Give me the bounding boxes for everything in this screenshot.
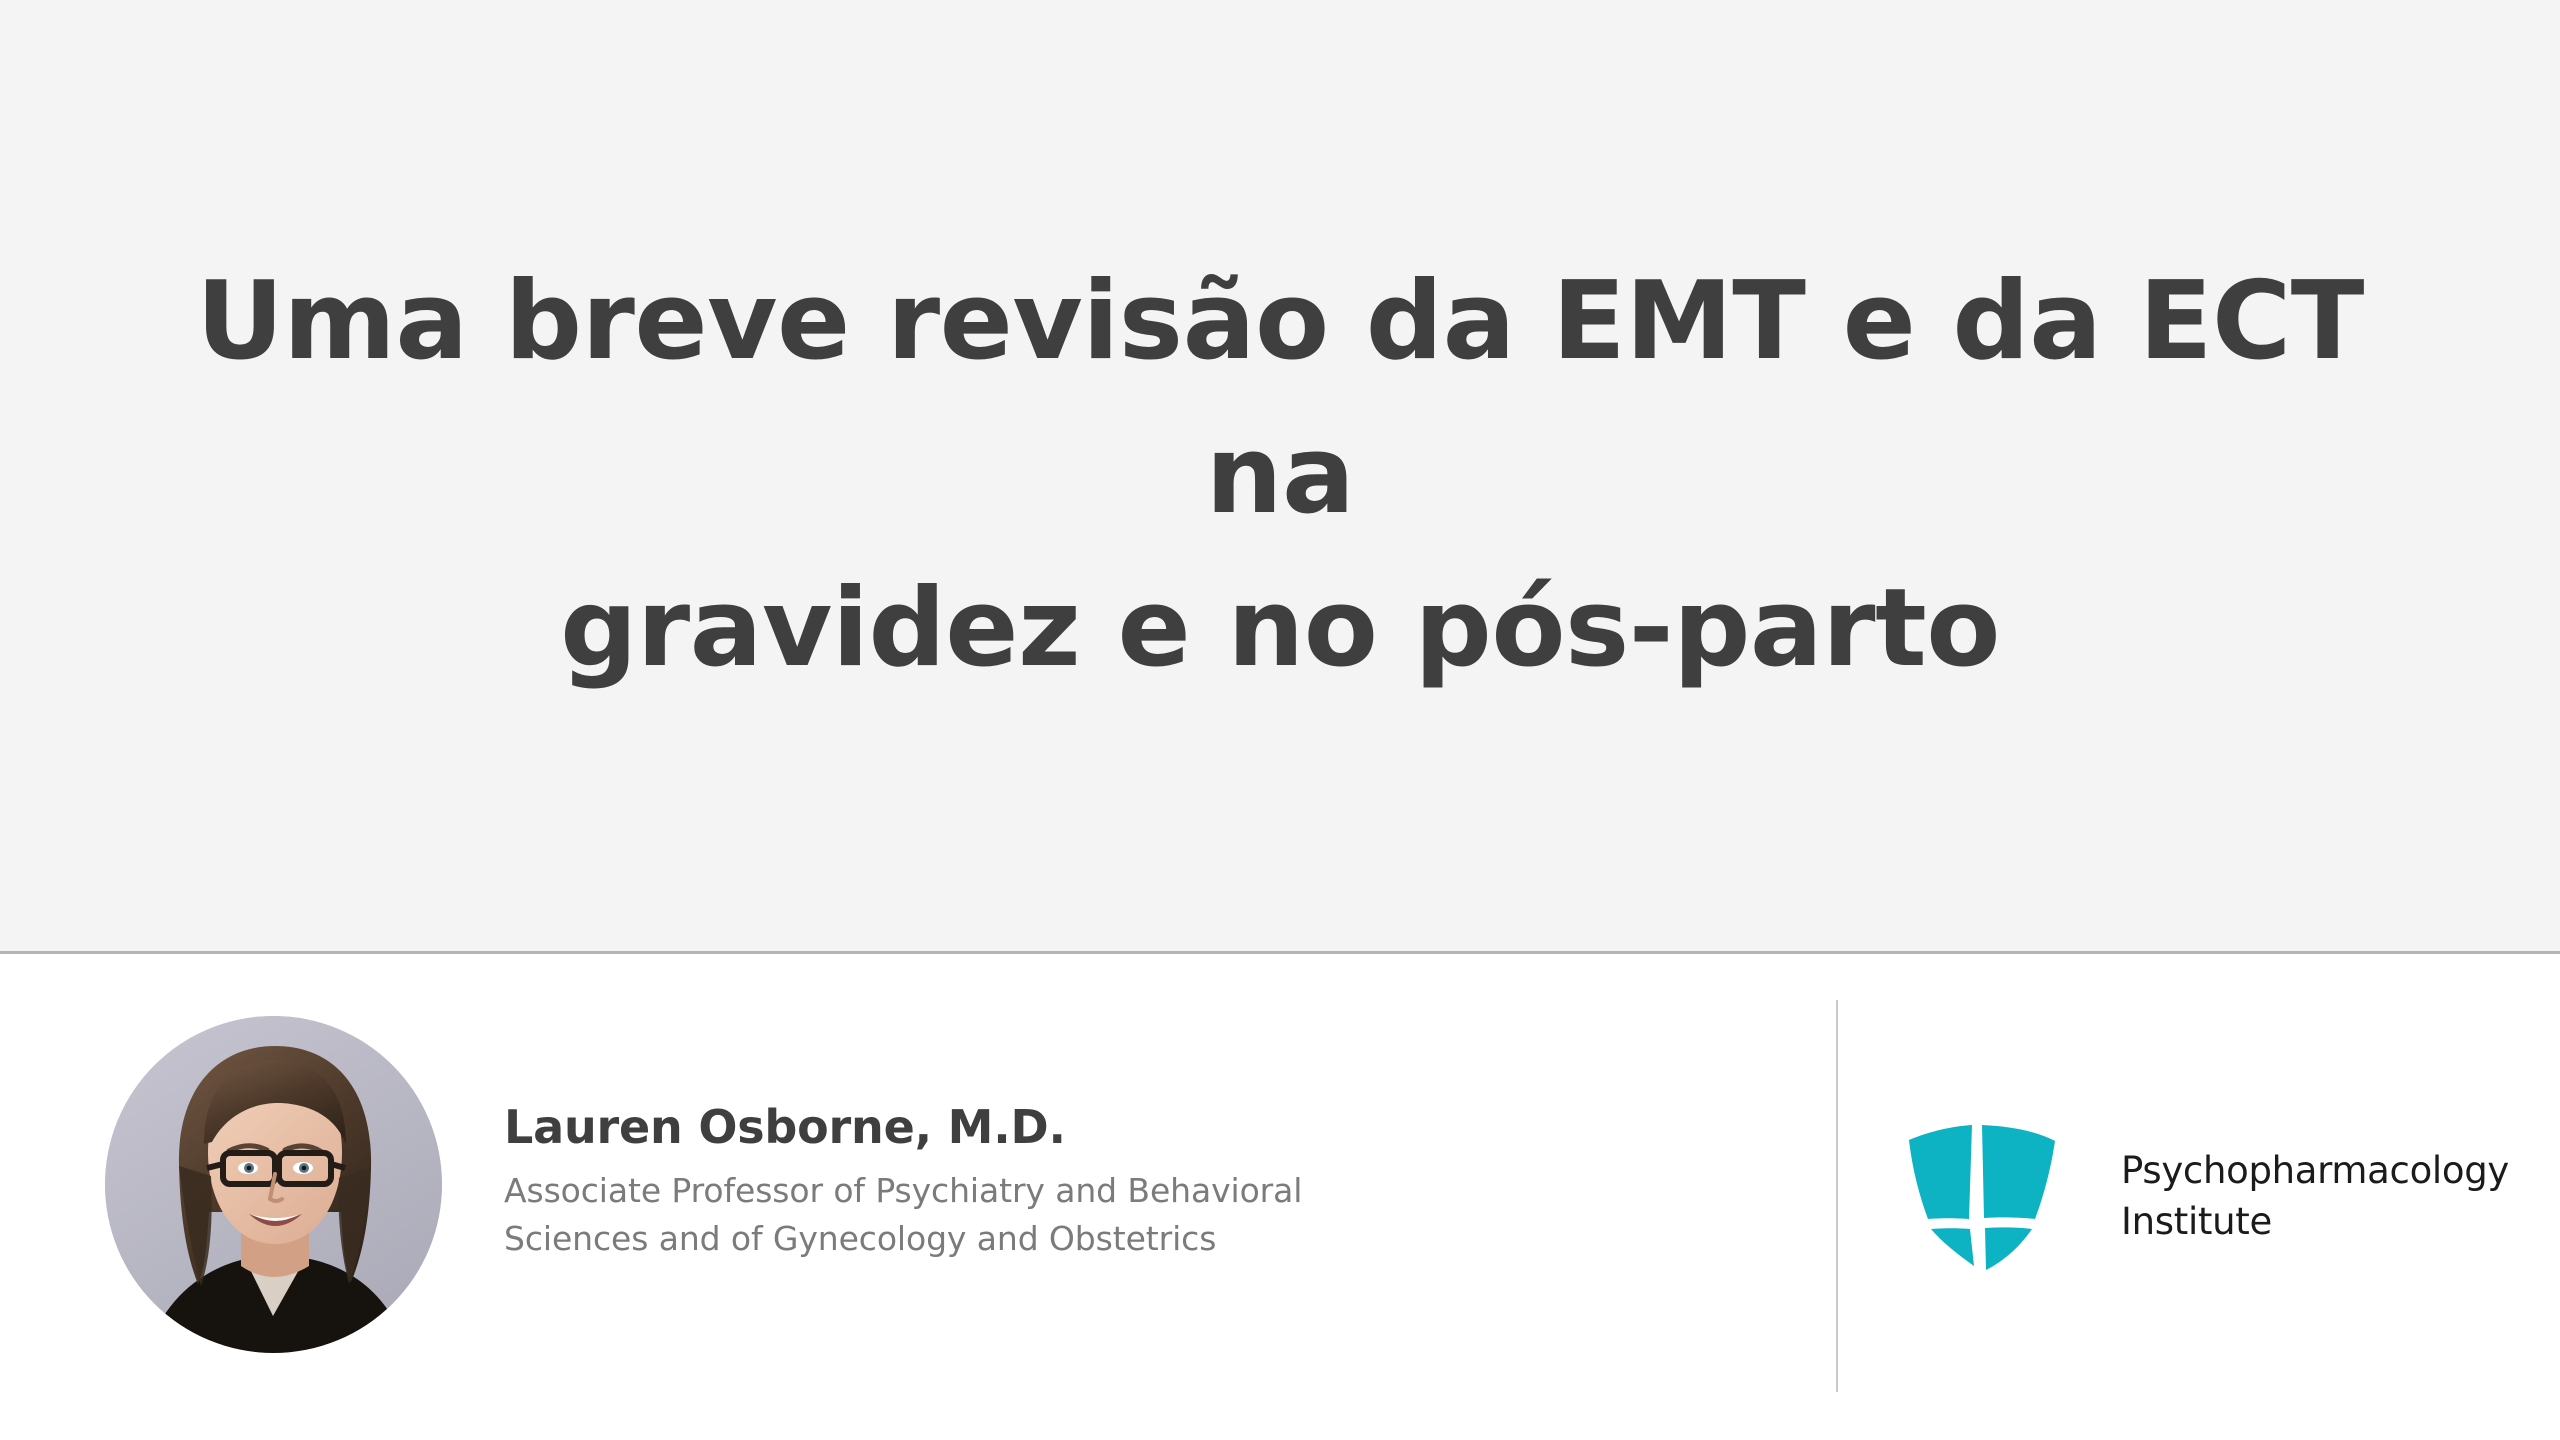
brand-lockup: Psychopharmacology Institute [1906, 1122, 2509, 1270]
slide-footer: Lauren Osborne, M.D. Associate Professor… [0, 954, 2560, 1440]
speaker-name: Lauren Osborne, M.D. [504, 1102, 1302, 1153]
slide-title: Uma breve revisão da EMT e da ECT na gra… [180, 245, 2380, 705]
speaker-block: Lauren Osborne, M.D. Associate Professor… [105, 1016, 1302, 1353]
speaker-role: Associate Professor of Psychiatry and Be… [504, 1167, 1302, 1263]
speaker-text: Lauren Osborne, M.D. Associate Professor… [504, 1016, 1302, 1263]
brand-name: Psychopharmacology Institute [2121, 1145, 2509, 1247]
avatar [105, 1016, 442, 1353]
presentation-slide: Uma breve revisão da EMT e da ECT na gra… [0, 0, 2560, 1440]
shield-cross-logo-icon [1906, 1122, 2058, 1270]
title-panel: Uma breve revisão da EMT e da ECT na gra… [0, 0, 2560, 951]
brand-divider [1836, 1000, 1838, 1392]
